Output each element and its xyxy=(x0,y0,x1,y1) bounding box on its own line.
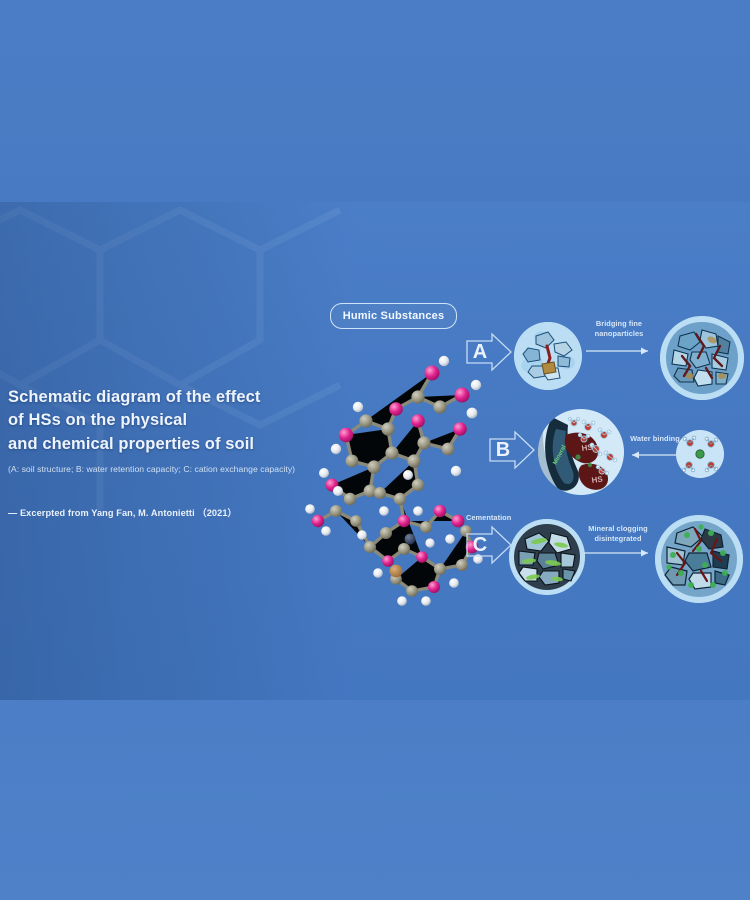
branch-tag-letter-a: A xyxy=(469,338,491,366)
panel-water-molecule-cluster xyxy=(676,430,724,478)
water-retention-illustration: HS HS Mineral xyxy=(538,409,624,495)
panel-disintegrated-mineral-aggregate xyxy=(655,515,743,603)
text-block: Schematic diagram of the effect of HSs o… xyxy=(8,386,348,519)
page-title-line-2: of HSs on the physical xyxy=(8,409,348,432)
branch-pre-annotation-c: Cementation xyxy=(466,513,536,523)
page-title: Schematic diagram of the effect of HSs o… xyxy=(8,386,348,456)
panel-humic-substance-water-retention: HS HS Mineral xyxy=(538,409,624,495)
page-subtitle: (A: soil structure; B: water retention c… xyxy=(8,463,348,475)
connector-arrow-b xyxy=(626,448,678,462)
hs-inner-label-2: HS xyxy=(591,474,604,485)
loose-nanoparticles-illustration xyxy=(514,322,582,390)
disintegrated-aggregate-illustration xyxy=(655,515,743,603)
cemented-aggregate-illustration xyxy=(509,519,585,595)
branch-annotation-b-line-1: Water binding xyxy=(627,434,683,444)
water-cluster-illustration xyxy=(676,430,724,478)
branch-annotation-c-line-1: Mineral clogging xyxy=(576,524,660,534)
background-band-top xyxy=(0,0,750,202)
panel-cemented-mineral-aggregate xyxy=(509,519,585,595)
background-band-bottom xyxy=(0,700,750,900)
branch-arrow-tag-a: A xyxy=(466,332,512,372)
page-title-line-3: and chemical properties of soil xyxy=(8,433,348,456)
branch-annotation-a: Bridging fine nanoparticles xyxy=(578,319,660,339)
branch-arrow-tag-b: B xyxy=(489,430,535,470)
connector-arrow-a xyxy=(586,344,656,358)
branch-annotation-b: Water binding xyxy=(627,434,683,444)
humic-substances-label-text: Humic Substances xyxy=(343,310,445,322)
source-credit: — Excerpted from Yang Fan, M. Antonietti… xyxy=(8,505,348,519)
branch-arrow-tag-c: C xyxy=(466,525,512,565)
panel-soil-aggregate-bridged xyxy=(660,316,744,400)
branch-annotation-a-line-2: nanoparticles xyxy=(578,329,660,339)
branch-annotation-c-line-2: disintegrated xyxy=(576,534,660,544)
panel-soil-nanoparticles-loose xyxy=(514,322,582,390)
branch-tag-letter-b: B xyxy=(492,436,514,464)
connector-arrow-c xyxy=(584,546,656,560)
branch-annotation-a-line-1: Bridging fine xyxy=(578,319,660,329)
branch-annotation-c: Mineral clogging disintegrated xyxy=(576,524,660,544)
schematic-poster: Schematic diagram of the effect of HSs o… xyxy=(0,0,750,900)
page-title-line-1: Schematic diagram of the effect xyxy=(8,386,348,409)
branch-tag-letter-c: C xyxy=(469,531,491,559)
bridged-aggregate-illustration xyxy=(660,316,744,400)
